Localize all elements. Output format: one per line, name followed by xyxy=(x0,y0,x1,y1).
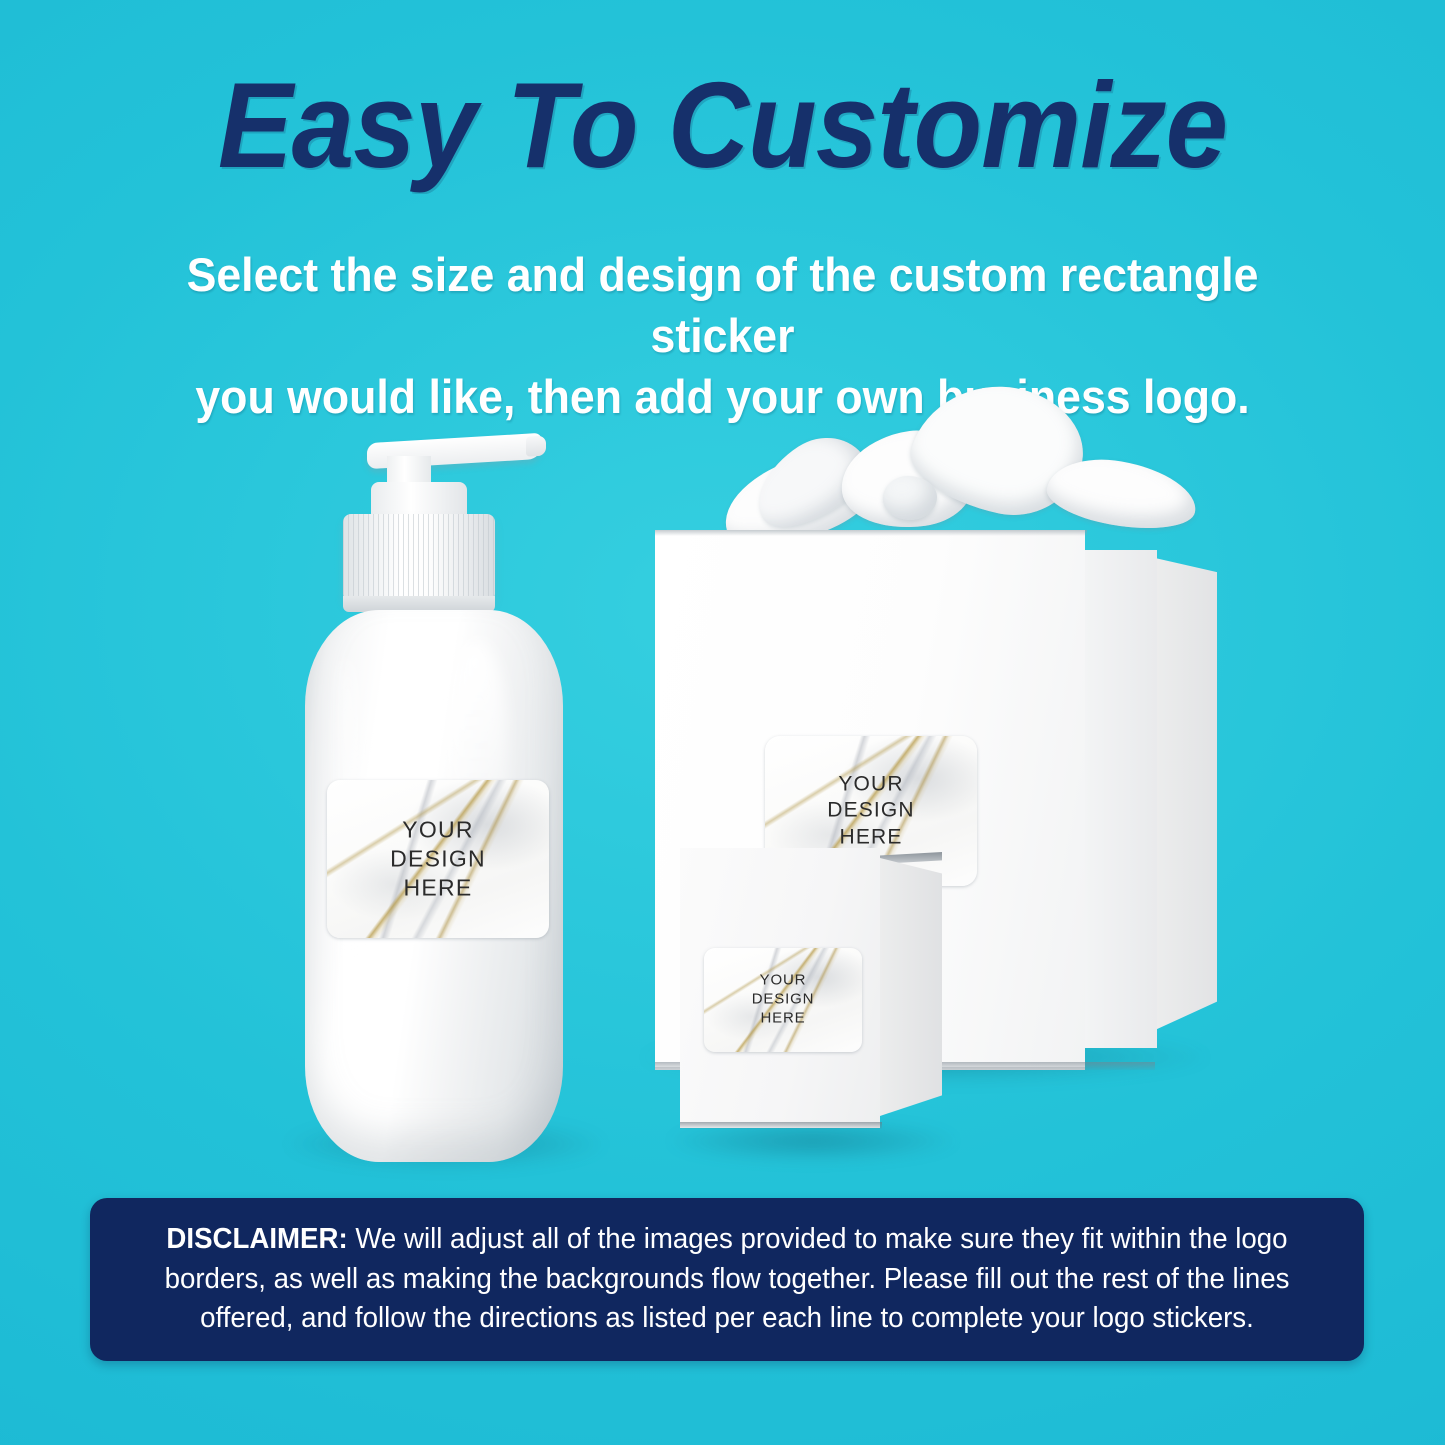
sticker-small-box[interactable]: YOUR DESIGN HERE xyxy=(704,948,862,1052)
sticker-bottle-label-text: YOUR DESIGN HERE xyxy=(327,816,549,903)
product-scene: YOUR DESIGN HERE YOUR DESIGN HERE xyxy=(0,380,1445,1210)
disclaimer-label: DISCLAIMER: xyxy=(166,1223,347,1255)
gift-box-back-face xyxy=(1155,558,1217,1030)
sticker-small-box-text: YOUR DESIGN HERE xyxy=(704,972,862,1029)
disclaimer-text: DISCLAIMER: We will adjust all of the im… xyxy=(109,1220,1345,1340)
sticker-bottle-label[interactable]: YOUR DESIGN HERE xyxy=(327,780,549,938)
small-box-side-face xyxy=(880,858,942,1116)
pump-bottle: YOUR DESIGN HERE xyxy=(295,420,595,1160)
gift-box-side-face xyxy=(1085,550,1157,1048)
small-box-base-edge xyxy=(680,1122,882,1129)
gift-box-lid-seam xyxy=(655,530,1087,536)
pump-collar xyxy=(343,514,495,600)
subtitle-line-1: Select the size and design of the custom… xyxy=(118,244,1327,366)
ribbon-knot xyxy=(883,476,937,520)
small-box: YOUR DESIGN HERE xyxy=(680,848,956,1144)
disclaimer-banner: DISCLAIMER: We will adjust all of the im… xyxy=(90,1198,1364,1361)
sticker-gift-box-text: YOUR DESIGN HERE xyxy=(765,771,977,850)
page-title: Easy To Customize xyxy=(58,64,1387,186)
ribbon-bow xyxy=(695,416,1185,546)
promo-banner: Easy To Customize Select the size and de… xyxy=(0,0,1445,1445)
